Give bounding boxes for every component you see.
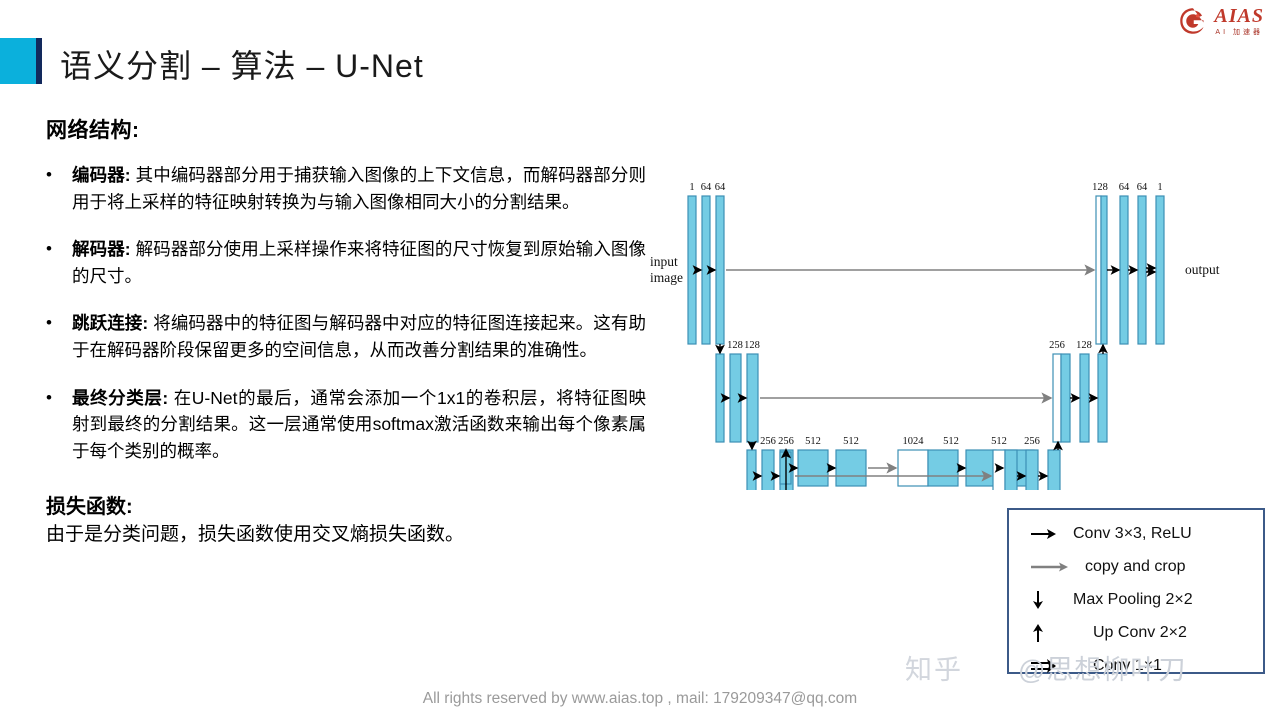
- legend-item-max-pooling: Max Pooling 2×2: [1009, 583, 1263, 616]
- svg-text:128: 128: [727, 340, 743, 351]
- section-heading-loss-function: 损失函数:: [46, 490, 646, 519]
- svg-text:512: 512: [805, 436, 821, 447]
- up-arrow-icon: [1031, 624, 1073, 642]
- bullet-term: 解码器:: [72, 239, 131, 259]
- slide: AIAS AI 加速器 语义分割 – 算法 – U-Net 网络结构: • 编码…: [0, 0, 1280, 720]
- title-accent-bar: [0, 38, 36, 84]
- bullet-dot-icon: •: [46, 385, 72, 465]
- legend-label: Max Pooling 2×2: [1073, 591, 1193, 609]
- bullet-term: 编码器:: [72, 165, 131, 185]
- svg-text:512: 512: [843, 436, 859, 447]
- legend-item-up-conv: Up Conv 2×2: [1009, 616, 1263, 649]
- legend-label: Conv 3×3, ReLU: [1073, 525, 1192, 543]
- svg-text:512: 512: [991, 436, 1007, 447]
- aias-logo: AIAS AI 加速器: [1178, 6, 1264, 36]
- unet-architecture-diagram: 16464 128128 256256 512512 1024512 1024 …: [648, 172, 1268, 490]
- bullet-term: 最终分类层:: [72, 388, 168, 408]
- bullet-text: 解码器: 解码器部分使用上采样操作来将特征图的尺寸恢复到原始输入图像的尺寸。: [72, 236, 646, 289]
- svg-text:128: 128: [1092, 182, 1108, 193]
- list-item: • 跳跃连接: 将编码器中的特征图与解码器中对应的特征图连接起来。这有助于在解码…: [46, 310, 646, 363]
- unet-input-label-1: input: [650, 254, 678, 269]
- bullet-text: 编码器: 其中编码器部分用于捕获输入图像的上下文信息，而解码器部分则用于将上采样…: [72, 162, 646, 215]
- svg-text:256: 256: [1024, 436, 1040, 447]
- bullet-dot-icon: •: [46, 236, 72, 289]
- legend-label: copy and crop: [1073, 558, 1186, 576]
- bullet-detail: 将编码器中的特征图与解码器中对应的特征图连接起来。这有助于在解码器阶段保留更多的…: [72, 313, 646, 360]
- svg-text:64: 64: [701, 182, 712, 193]
- aias-dragon-logo-icon: [1178, 6, 1208, 36]
- black-right-arrow-icon: [1031, 528, 1073, 540]
- list-item: • 编码器: 其中编码器部分用于捕获输入图像的上下文信息，而解码器部分则用于将上…: [46, 162, 646, 215]
- content-column: 网络结构: • 编码器: 其中编码器部分用于捕获输入图像的上下文信息，而解码器部…: [46, 114, 646, 549]
- svg-text:256: 256: [1049, 340, 1065, 351]
- list-item: • 最终分类层: 在U-Net的最后，通常会添加一个1x1的卷积层，将特征图映射…: [46, 385, 646, 465]
- footer-copyright: All rights reserved by www.aias.top , ma…: [0, 690, 1280, 708]
- unet-input-label-2: image: [650, 270, 683, 285]
- svg-text:64: 64: [1137, 182, 1148, 193]
- logo-subtitle: AI 加速器: [1215, 29, 1263, 36]
- legend-label: Up Conv 2×2: [1073, 624, 1187, 642]
- bullet-dot-icon: •: [46, 162, 72, 215]
- section-heading-network-structure: 网络结构:: [46, 114, 646, 144]
- loss-function-block: 损失函数: 由于是分类问题，损失函数使用交叉熵损失函数。: [46, 490, 646, 549]
- page-title: 语义分割 – 算法 – U-Net: [60, 41, 424, 87]
- gray-right-arrow-icon: [1031, 561, 1073, 573]
- down-arrow-icon: [1031, 591, 1073, 609]
- bullet-detail: 解码器部分使用上采样操作来将特征图的尺寸恢复到原始输入图像的尺寸。: [72, 239, 646, 286]
- bullet-dot-icon: •: [46, 310, 72, 363]
- svg-text:1: 1: [1157, 182, 1162, 193]
- svg-text:1024: 1024: [903, 436, 925, 447]
- svg-text:128: 128: [1076, 340, 1092, 351]
- bullet-list: • 编码器: 其中编码器部分用于捕获输入图像的上下文信息，而解码器部分则用于将上…: [46, 162, 646, 464]
- title-accent-edge: [36, 38, 42, 84]
- legend-item-conv: Conv 3×3, ReLU: [1009, 517, 1263, 550]
- svg-text:256: 256: [760, 436, 776, 447]
- svg-text:64: 64: [715, 182, 726, 193]
- bullet-text: 跳跃连接: 将编码器中的特征图与解码器中对应的特征图连接起来。这有助于在解码器阶…: [72, 310, 646, 363]
- logo-wordmark: AIAS: [1214, 6, 1264, 26]
- bullet-text: 最终分类层: 在U-Net的最后，通常会添加一个1x1的卷积层，将特征图映射到最…: [72, 385, 646, 465]
- watermark-user: @思想柳叶刀: [1018, 648, 1186, 687]
- legend-item-copy-crop: copy and crop: [1009, 550, 1263, 583]
- svg-text:256: 256: [778, 436, 794, 447]
- loss-function-description: 由于是分类问题，损失函数使用交叉熵损失函数。: [46, 521, 646, 549]
- bullet-detail: 其中编码器部分用于捕获输入图像的上下文信息，而解码器部分则用于将上采样的特征映射…: [72, 165, 646, 212]
- svg-text:128: 128: [744, 340, 760, 351]
- list-item: • 解码器: 解码器部分使用上采样操作来将特征图的尺寸恢复到原始输入图像的尺寸。: [46, 236, 646, 289]
- unet-output-label: output: [1185, 262, 1220, 277]
- watermark-site: 知乎: [905, 648, 963, 687]
- bullet-term: 跳跃连接:: [72, 313, 148, 333]
- svg-text:1: 1: [689, 182, 694, 193]
- svg-text:64: 64: [1119, 182, 1130, 193]
- svg-text:512: 512: [943, 436, 959, 447]
